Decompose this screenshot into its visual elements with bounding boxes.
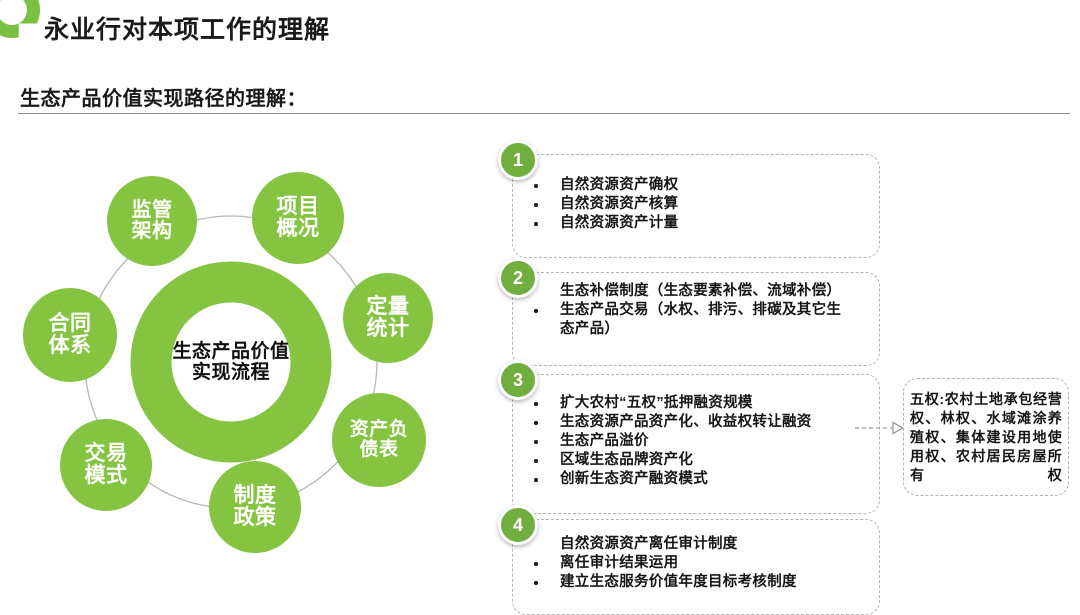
bullet-item: 建立生态服务价值年度目标考核制度 <box>512 573 860 592</box>
step-2-number-badge[interactable]: 2 <box>498 258 538 298</box>
bullet-item: 生态产品溢价 <box>512 432 860 451</box>
wheel-node-label: 制度政策 <box>234 485 277 530</box>
brand-logo: YYX <box>0 0 46 44</box>
title-divider <box>18 113 1070 114</box>
wheel-node-asset-liability-sheet[interactable]: 资产负债表 <box>332 393 426 487</box>
step-1-bullet-list: 自然资源资产确权自然资源资产核算自然资源资产计量 <box>512 176 860 233</box>
bullet-item: 自然资源资产计量 <box>512 214 860 233</box>
five-rights-callout-text: 五权:农村土地承包经营权、林权、水域滩涂养殖权、集体建设用地使用权、农村居民房屋… <box>910 390 1062 485</box>
value-realization-wheel: 项目概况定量统计资产负债表制度政策交易模式合同体系监管架构 生态产品价值实现流程 <box>0 140 470 600</box>
step-2: 2生态补偿制度（生态要素补偿、流域补偿）生态产品交易（水权、排污、排碳及其它生 … <box>498 258 880 366</box>
wheel-node-label: 监管架构 <box>132 200 173 242</box>
step-3: 3扩大农村“五权”抵押融资规模生态资源产品资产化、收益权转让融资生态产品溢价区域… <box>498 360 880 514</box>
bullet-item: 离任审计结果运用 <box>512 554 860 573</box>
wheel-node-label: 交易模式 <box>85 443 128 488</box>
bullet-item: 创新生态资产融资模式 <box>512 470 860 489</box>
step-1: 1自然资源资产确权自然资源资产核算自然资源资产计量 <box>498 140 880 258</box>
bullet-item: 生态产品交易（水权、排污、排碳及其它生 态产品） <box>512 301 860 339</box>
wheel-hub-label: 生态产品价值实现流程 <box>172 303 290 421</box>
step-2-bullet-list: 生态补偿制度（生态要素补偿、流域补偿）生态产品交易（水权、排污、排碳及其它生 态… <box>512 282 860 339</box>
bullet-item: 生态资源产品资产化、收益权转让融资 <box>512 413 860 432</box>
wheel-node-label: 合同体系 <box>49 313 92 358</box>
step-4: 4自然资源资产离任审计制度离任审计结果运用建立生态服务价值年度目标考核制度 <box>498 505 880 615</box>
wheel-node-project-overview[interactable]: 项目概况 <box>252 172 344 264</box>
five-rights-callout: 五权:农村土地承包经营权、林权、水域滩涂养殖权、集体建设用地使用权、农村居民房屋… <box>903 378 1069 496</box>
step-1-number-badge[interactable]: 1 <box>498 140 538 180</box>
wheel-node-contract-system[interactable]: 合同体系 <box>23 288 117 382</box>
step-4-bullet-list: 自然资源资产离任审计制度离任审计结果运用建立生态服务价值年度目标考核制度 <box>512 535 860 592</box>
wheel-node-regulatory-framework[interactable]: 监管架构 <box>107 176 197 266</box>
wheel-node-label: 定量统计 <box>367 296 410 341</box>
bullet-item: 自然资源资产离任审计制度 <box>512 535 860 554</box>
bullet-item: 区域生态品牌资产化 <box>512 451 860 470</box>
bullet-item: 生态补偿制度（生态要素补偿、流域补偿） <box>512 282 860 301</box>
dashed-arrow-right-icon <box>855 418 903 438</box>
wheel-node-label: 项目概况 <box>277 196 320 241</box>
step-4-number-badge[interactable]: 4 <box>498 505 538 545</box>
section-title: 生态产品价值实现路径的理解： <box>20 82 307 111</box>
step-3-number-badge[interactable]: 3 <box>498 360 538 400</box>
wheel-node-transaction-model[interactable]: 交易模式 <box>60 419 152 511</box>
bullet-item: 自然资源资产核算 <box>512 195 860 214</box>
wheel-node-institutional-policy[interactable]: 制度政策 <box>209 461 301 553</box>
wheel-node-label: 资产负债表 <box>350 420 409 460</box>
bullet-item: 自然资源资产确权 <box>512 176 860 195</box>
bullet-item: 扩大农村“五权”抵押融资规模 <box>512 394 860 413</box>
wheel-hub-text: 生态产品价值实现流程 <box>172 341 290 384</box>
leaf-c-logo-icon <box>0 0 40 38</box>
page-title: 永业行对本项工作的理解 <box>44 10 330 46</box>
wheel-node-quantitative-statistics[interactable]: 定量统计 <box>343 273 433 363</box>
step-3-bullet-list: 扩大农村“五权”抵押融资规模生态资源产品资产化、收益权转让融资生态产品溢价区域生… <box>512 394 860 489</box>
